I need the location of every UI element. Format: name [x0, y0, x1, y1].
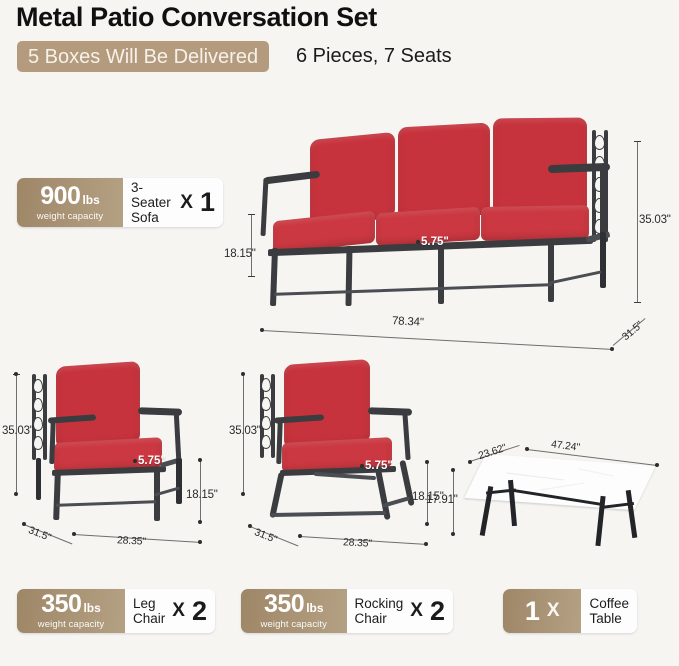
coffee-table-item-line2: Table: [589, 611, 629, 626]
leg-chair-multiplier: X: [172, 600, 185, 622]
coffee-table-illustration: [466, 452, 666, 547]
leg-chair-lattice-panel: [32, 374, 47, 460]
sofa-item-name: 3-Seater Sofa: [131, 180, 173, 225]
sofa-height-tick-bottom: [634, 302, 641, 303]
rocking-chair-capacity-value: 350: [264, 592, 304, 617]
rocking-chair-height-label: 35.03": [229, 425, 261, 437]
rocking-chair-height-dot-bottom: [241, 492, 245, 496]
leg-chair-seat-dot-bottom: [198, 520, 202, 524]
leg-chair-right-arm-post: [174, 412, 182, 460]
rocking-chair-rocker-left: [269, 472, 284, 518]
leg-chair-cushion-thickness-label: 5.75": [138, 455, 166, 467]
sofa-seat-cushion-3: [481, 205, 589, 241]
leg-chair-cushion-dot: [133, 459, 137, 463]
rocking-chair-width-label: 28.35": [343, 536, 372, 549]
leg-chair-badge-right: Leg Chair X 2: [125, 589, 215, 633]
coffee-table-width-dot-left: [525, 447, 529, 451]
sofa-left-arm-post: [260, 178, 268, 236]
sofa-seat-height-tick-bottom: [248, 276, 255, 277]
infographic-canvas: Metal Patio Conversation Set 5 Boxes Wil…: [0, 0, 679, 666]
leg-chair-capacity-unit: lbs: [83, 602, 100, 614]
rocking-chair-height-dot-top: [241, 372, 245, 376]
rocking-chair-capacity-badge: 350 lbs weight capacity Rocking Chair X …: [241, 589, 453, 633]
leg-chair-width-dot-left: [72, 532, 76, 536]
rocking-chair-item-line2: Chair: [355, 611, 404, 626]
leg-chair-capacity-badge: 350 lbs weight capacity Leg Chair X 2: [17, 589, 215, 633]
rocking-chair-illustration: [252, 360, 432, 545]
rocking-chair-back-cushion: [284, 359, 370, 449]
coffee-table-height-label: 17.91": [426, 494, 458, 506]
sofa-illustration: [248, 112, 638, 327]
leg-chair-capacity-sub: weight capacity: [38, 619, 104, 630]
rocking-chair-spring-link: [314, 472, 376, 480]
coffee-table-quantity: 1: [525, 598, 540, 625]
sofa-stretcher: [274, 283, 552, 296]
leg-chair-item-line1: Leg: [133, 596, 165, 611]
sofa-item-line1: 3-Seater: [131, 180, 173, 210]
rocking-chair-capacity-unit: lbs: [306, 602, 323, 614]
sofa-width-dot-left: [260, 328, 264, 332]
rocking-chair-width-dot-right: [424, 542, 428, 546]
leg-chair-seat-dot-top: [198, 458, 202, 462]
rocking-chair-base-rail: [270, 511, 386, 517]
leg-chair-item-line2: Chair: [133, 611, 165, 626]
sofa-leg-back-right: [600, 232, 606, 288]
sofa-seat-height-label: 18.15": [224, 248, 256, 260]
sofa-capacity-unit: lbs: [82, 194, 99, 206]
sofa-side-stretcher: [548, 270, 601, 284]
sofa-capacity-value: 900: [40, 184, 80, 209]
sofa-capacity-sub: weight capacity: [37, 211, 103, 222]
leg-chair-width-dot-right: [198, 540, 202, 544]
sofa-capacity-number: 900 lbs: [40, 184, 100, 209]
sofa-leg-front-left: [270, 248, 278, 306]
sofa-leg-mid-1: [345, 246, 352, 306]
coffee-table-width-dot-right: [655, 463, 659, 467]
rocking-chair-width-dot-left: [298, 534, 302, 538]
rocking-chair-badge-right: Rocking Chair X 2: [347, 589, 454, 633]
pieces-seats-text: 6 Pieces, 7 Seats: [296, 45, 452, 68]
page-title: Metal Patio Conversation Set: [16, 2, 377, 33]
rocking-chair-item-name: Rocking Chair: [355, 596, 404, 626]
rocking-chair-cushion-dot: [360, 464, 364, 468]
rocking-chair-right-arm-post: [402, 412, 410, 460]
rocking-chair-lattice-panel: [260, 374, 275, 458]
sofa-capacity-badge: 900 lbs weight capacity 3-Seater Sofa X …: [17, 178, 223, 227]
sofa-quantity: 1: [200, 189, 215, 216]
leg-chair-height-label: 35.03": [2, 425, 34, 437]
sofa-leg-front-right: [548, 240, 554, 302]
leg-chair-quantity: 2: [192, 598, 207, 625]
leg-chair-leg-front-left: [53, 472, 61, 520]
leg-chair-capacity-number: 350 lbs: [41, 592, 101, 617]
leg-chair-illustration: [26, 362, 206, 542]
sofa-height-tick-top: [634, 141, 641, 142]
coffee-table-badge-right: Coffee Table: [581, 589, 637, 633]
leg-chair-leg-back-right: [176, 458, 182, 504]
leg-chair-width-label: 28.35": [117, 534, 146, 547]
rocking-chair-depth-dot: [248, 524, 252, 528]
leg-chair-item-name: Leg Chair: [133, 596, 165, 626]
sofa-cushion-dot: [416, 240, 420, 244]
coffee-table-badge: 1 X Coffee Table: [503, 589, 637, 633]
rocking-chair-quantity: 2: [430, 598, 445, 625]
sofa-multiplier: X: [180, 192, 193, 214]
sofa-back-cushion-2: [398, 123, 490, 220]
rocking-chair-seat-dot-bottom: [425, 522, 429, 526]
leg-chair-capacity-left: 350 lbs weight capacity: [17, 589, 125, 633]
coffee-table-depth-dot: [468, 460, 472, 464]
leg-chair-capacity-value: 350: [41, 592, 81, 617]
rocking-chair-capacity-left: 350 lbs weight capacity: [241, 589, 347, 633]
sofa-capacity-left: 900 lbs weight capacity: [17, 178, 123, 227]
boxes-delivered-label: 5 Boxes Will Be Delivered: [28, 46, 258, 69]
boxes-delivered-badge: 5 Boxes Will Be Delivered: [17, 41, 269, 72]
leg-chair-leg-back-left: [36, 458, 41, 500]
sofa-width-line: [262, 330, 612, 350]
sofa-leg-mid-2: [438, 243, 444, 304]
rocking-chair-item-line1: Rocking: [355, 596, 404, 611]
coffee-table-item-name: Coffee Table: [589, 596, 629, 626]
coffee-table-height-dot-top: [451, 468, 455, 472]
rocking-chair-seat-dot-top: [425, 460, 429, 464]
rocking-chair-cushion-thickness-label: 5.75": [365, 460, 393, 472]
leg-chair-seat-height-label: 18.15": [186, 489, 218, 501]
coffee-table-item-line1: Coffee: [589, 596, 629, 611]
sofa-height-label: 35.03": [639, 214, 671, 226]
sofa-width-dot-right: [610, 347, 614, 351]
sofa-width-label: 78.34": [392, 315, 424, 329]
rocking-chair-capacity-number: 350 lbs: [264, 592, 324, 617]
leg-chair-height-dot-top: [14, 372, 18, 376]
leg-chair-stretcher: [56, 500, 156, 506]
rocking-chair-multiplier: X: [410, 600, 423, 622]
coffee-table-badge-left: 1 X: [503, 589, 581, 633]
sofa-cushion-thickness-label: 5.75": [421, 236, 449, 248]
rocking-chair-capacity-sub: weight capacity: [261, 619, 327, 630]
sofa-right-arm-post: [600, 170, 606, 238]
leg-chair-height-dot-bottom: [14, 492, 18, 496]
sofa-height-line: [637, 141, 638, 302]
sofa-seat-height-line: [251, 214, 252, 276]
coffee-table-height-dot-bottom: [451, 532, 455, 536]
coffee-table-multiplier: X: [547, 600, 560, 622]
leg-chair-back-cushion: [56, 361, 140, 449]
pieces-seats-label: 6 Pieces, 7 Seats: [296, 41, 452, 72]
sofa-badge-right: 3-Seater Sofa X 1: [123, 178, 223, 227]
leg-chair-depth-dot: [22, 522, 26, 526]
sofa-seat-height-tick-top: [248, 214, 255, 215]
sofa-item-line2: Sofa: [131, 210, 173, 225]
